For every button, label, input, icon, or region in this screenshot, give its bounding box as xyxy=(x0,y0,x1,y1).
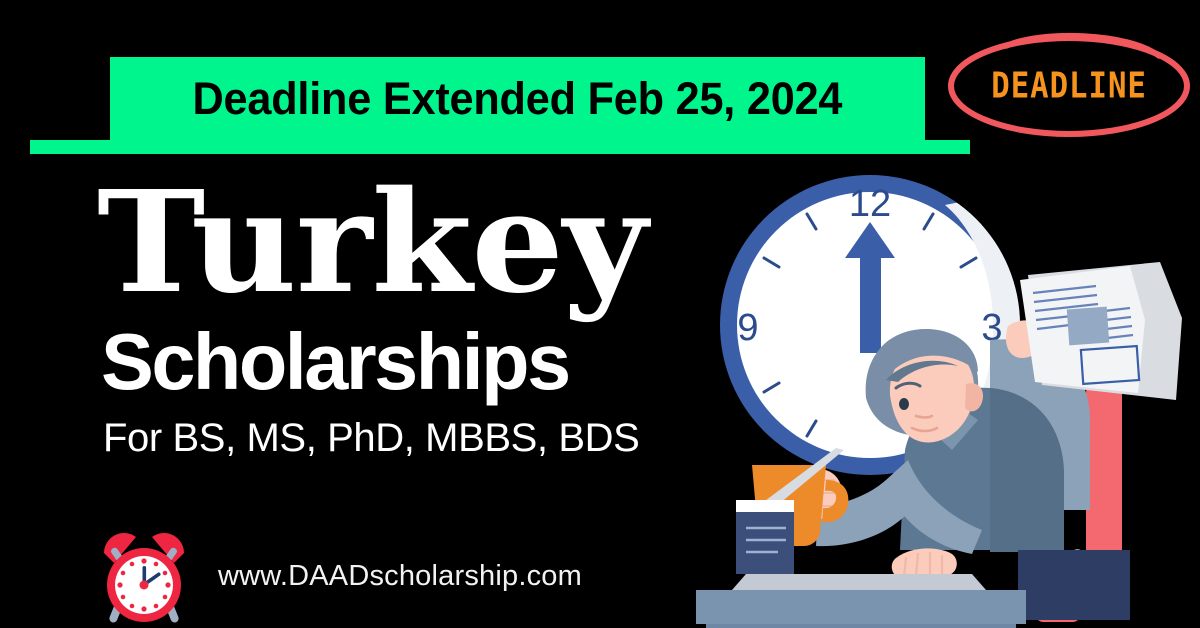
svg-text:9: 9 xyxy=(737,307,758,349)
illustration: 12 9 3 xyxy=(690,150,1200,628)
footer-block: www.DAADscholarship.com xyxy=(96,523,582,625)
svg-text:12: 12 xyxy=(849,183,891,225)
man-at-desk-with-clock-illustration: 12 9 3 xyxy=(690,150,1200,628)
deadline-stamp-label-wrap: DEADLINE xyxy=(944,22,1194,142)
deadline-banner-text: Deadline Extended Feb 25, 2024 xyxy=(193,73,843,125)
newspaper-icon xyxy=(1020,262,1182,400)
poster-canvas: Deadline Extended Feb 25, 2024 DEADLINE … xyxy=(0,0,1200,628)
page-subtitle: Scholarships xyxy=(101,322,790,402)
deadline-stamp: DEADLINE xyxy=(944,22,1194,142)
alarm-clock-icon xyxy=(96,523,192,625)
deadline-stamp-label: DEADLINE xyxy=(991,64,1147,107)
deadline-banner: Deadline Extended Feb 25, 2024 xyxy=(110,57,925,140)
website-url: www.DAADscholarship.com xyxy=(218,556,582,593)
